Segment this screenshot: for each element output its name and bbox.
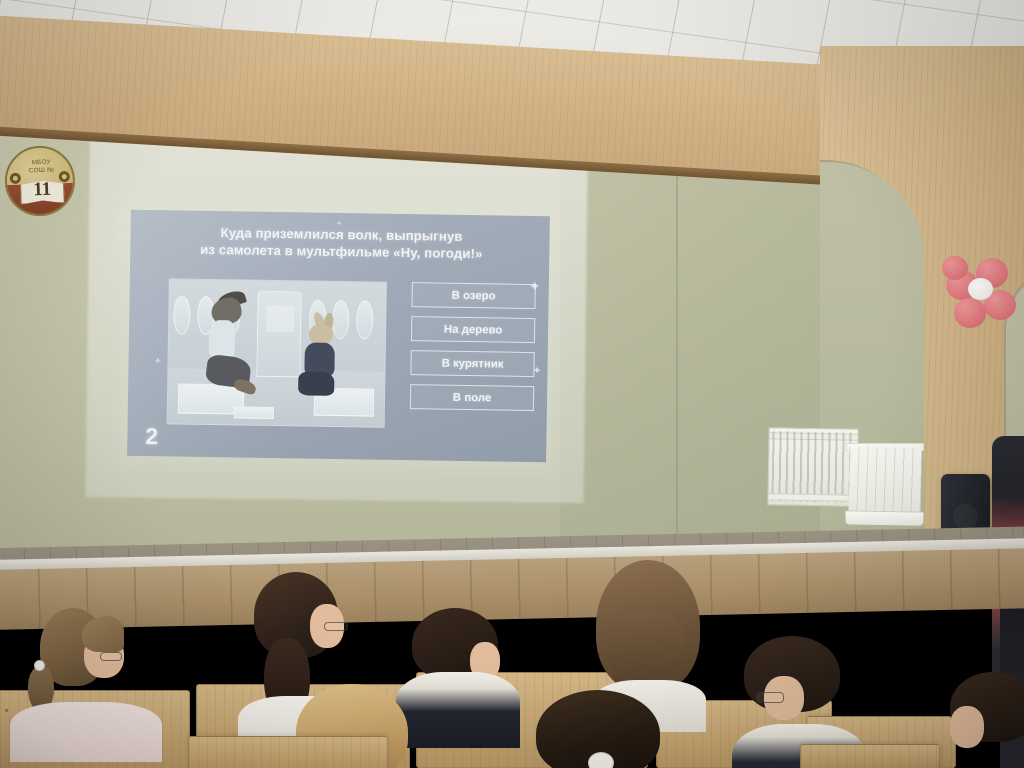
quiz-question-title: Куда приземлился волк, выпрыгнув из само… bbox=[146, 223, 536, 264]
cabin-door bbox=[256, 291, 301, 378]
answer-option-4[interactable]: В поле bbox=[410, 384, 534, 411]
school-emblem: МБОУ СОШ № 11 bbox=[4, 139, 77, 227]
eyeglasses bbox=[100, 652, 122, 661]
student bbox=[400, 608, 512, 738]
hare-character bbox=[302, 323, 349, 408]
emblem-disc: МБОУ СОШ № 11 bbox=[4, 145, 76, 217]
sparkle-icon: ✦ bbox=[153, 356, 162, 367]
answer-option-1[interactable]: В озеро bbox=[411, 282, 535, 309]
skirted-table bbox=[848, 446, 921, 525]
hair-scrunchie bbox=[34, 660, 45, 671]
assembly-hall-photo: МБОУ СОШ № 11 Куда приземлился волк, вып… bbox=[0, 0, 1024, 768]
sparkle-icon: ✦ bbox=[532, 364, 541, 377]
student bbox=[950, 672, 1024, 768]
eyeglasses bbox=[756, 692, 784, 703]
answer-option-3[interactable]: В курятник bbox=[410, 350, 534, 377]
student bbox=[588, 560, 712, 710]
hair-scrunchie bbox=[588, 752, 614, 768]
answer-option-2[interactable]: На дерево bbox=[411, 316, 535, 343]
balloon bbox=[942, 256, 968, 280]
sparkle-icon: ✦ bbox=[336, 219, 343, 228]
eyeglasses bbox=[324, 622, 348, 631]
answer-options-list: В озеро На дерево В курятник В поле bbox=[410, 282, 536, 420]
seat-back[interactable] bbox=[800, 744, 940, 768]
seat-back[interactable] bbox=[188, 736, 388, 768]
wall-radiator bbox=[767, 427, 858, 507]
slide-number: 2 bbox=[145, 423, 158, 450]
luggage-block bbox=[234, 406, 274, 419]
wolf-character bbox=[204, 298, 258, 407]
balloon bbox=[954, 298, 986, 328]
cartoon-still-image bbox=[167, 278, 387, 427]
balloon-center bbox=[968, 278, 993, 300]
projected-quiz-slide: Куда приземлился волк, выпрыгнув из само… bbox=[127, 210, 550, 463]
student bbox=[536, 690, 664, 768]
student bbox=[24, 608, 144, 728]
balloon-flower-decoration bbox=[946, 252, 1020, 336]
sparkle-icon: ✦ bbox=[529, 278, 541, 295]
